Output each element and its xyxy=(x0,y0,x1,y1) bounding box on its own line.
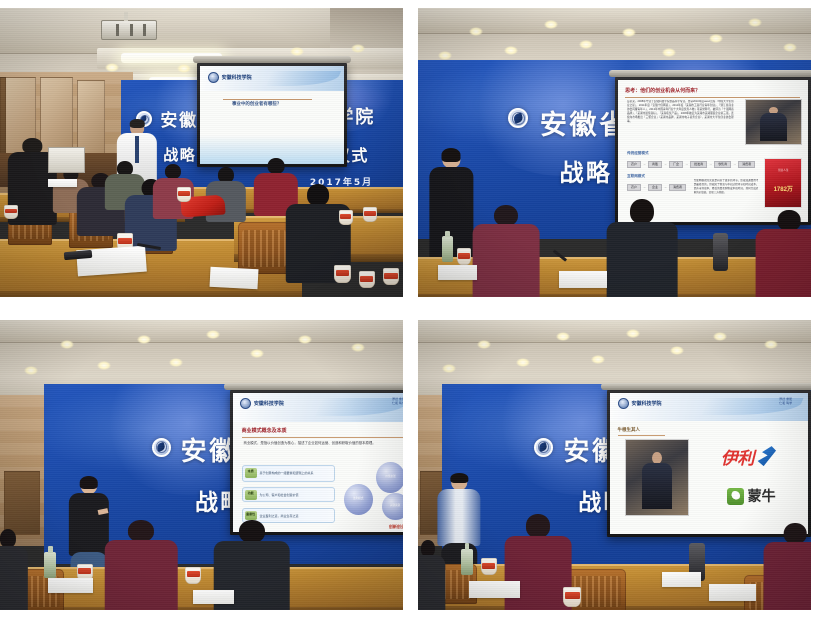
slide-chip: 功能 为公司、客户和社会创造价值 xyxy=(242,487,335,502)
document-paper xyxy=(48,578,92,593)
downlight xyxy=(579,40,593,49)
brand-yili: 伊利 xyxy=(721,444,776,469)
attendee xyxy=(607,199,678,297)
slide-logo-icon xyxy=(618,398,629,409)
downlight xyxy=(556,332,570,341)
presenter xyxy=(69,477,109,579)
chip-tag: 本质 xyxy=(245,468,257,479)
brand-mengniu: 蒙牛 xyxy=(727,486,776,506)
document-paper xyxy=(709,584,756,601)
document-paper xyxy=(209,267,258,290)
book-caption: 创业人生 xyxy=(765,168,801,172)
downlight xyxy=(516,358,530,367)
mengniu-logo-icon xyxy=(727,488,744,505)
projection-screen: 安徽科技学院 厚德 重能 仁和 笃学 商业模式概念及本质 商业模式，是指以价值创… xyxy=(230,390,403,535)
document-paper xyxy=(469,581,520,598)
attendee xyxy=(0,529,28,610)
downlight xyxy=(97,361,111,370)
downlight xyxy=(105,63,119,72)
brand-yili-label: 伊利 xyxy=(721,444,754,469)
slide-book-cover: 创业人生 1782万 xyxy=(764,158,802,207)
slide-logo-icon xyxy=(240,398,251,409)
downlight xyxy=(504,46,518,55)
flow-section1-label: 传统经营模式 xyxy=(627,151,649,156)
flow-row-traditional: 农户→ 商贩→ 厂企→ 批发商→ 零售商→ 消费者 xyxy=(627,161,755,168)
document-paper xyxy=(193,590,233,605)
slide-header-logo: 安徽科技学院 xyxy=(222,74,252,81)
chair xyxy=(238,222,290,274)
slide-logo-icon xyxy=(208,72,219,83)
banner-line2: 战略 xyxy=(559,153,612,188)
photo-bottom-right[interactable]: 安徽省 战略 安徽科技学院 厚德 重能 仁和 笃学 xyxy=(418,320,811,610)
downlight xyxy=(351,343,365,352)
chip-text: 企业盈利之道，商业生存之道 xyxy=(257,514,299,518)
bottle xyxy=(461,549,473,575)
paper-cup xyxy=(457,248,471,265)
downlight xyxy=(626,329,640,338)
slide-chip: 本质 基于创意构成的一组要素和逻辑上的关系 xyxy=(242,465,335,482)
downlight xyxy=(250,349,264,358)
downlight xyxy=(351,44,365,53)
slide-motto-line2: 仁和 笃学 xyxy=(392,401,403,406)
slide-motto-line2: 仁和 笃学 xyxy=(779,401,792,406)
downlight xyxy=(783,43,797,52)
paper-cup xyxy=(339,210,353,224)
downlight xyxy=(137,335,151,344)
attendee xyxy=(473,205,540,297)
paper-cup xyxy=(185,567,201,584)
paper-cup xyxy=(383,268,399,285)
university-emblem-icon xyxy=(534,438,553,457)
document-paper xyxy=(662,572,701,587)
projection-screen: 安徽科技学院 事业中的创业者有哪些？ xyxy=(197,63,346,167)
downlight xyxy=(298,335,312,344)
paper-cup xyxy=(363,207,377,221)
photo-bottom-left[interactable]: 安徽省 战略 安徽科技学院 厚德 重能 仁和 笃学 xyxy=(0,320,403,610)
diagram-bubble: 盈利模式 xyxy=(344,484,373,515)
downlight xyxy=(709,34,723,43)
downlight xyxy=(469,27,483,36)
downlight xyxy=(713,332,727,341)
chip-tag: 功能 xyxy=(245,490,257,500)
slide-title: 牛根生其人 xyxy=(618,427,641,433)
chip-text: 基于创意构成的一组要素和逻辑上的关系 xyxy=(257,471,314,475)
projection-screen: 安徽科技学院 厚德 重能 仁和 笃学 牛根生其人 伊利 xyxy=(607,390,811,538)
slide-title: 事业中的创业者有哪些？ xyxy=(232,101,282,107)
side-cabinet xyxy=(48,147,84,173)
slide-body-text: 商业模式，是指以价值创造为核心，描述了企业如何运营、创造和获取价值的基本原理。 xyxy=(243,441,401,459)
paper-cup xyxy=(481,558,497,575)
downlight xyxy=(206,330,220,339)
slide-body-text: 彭某某，2008年毕业于安徽科技学院食品科学专业，曾获2010年度школ出席「… xyxy=(627,100,734,145)
photo-top-right[interactable]: 安徽省 战略 思考：他们的创业机会从何而来？ 彭某某，2008年毕业于安徽科技学… xyxy=(418,8,811,297)
diagram-bubble: 价值主张 xyxy=(376,462,403,493)
downlight xyxy=(442,364,456,373)
slide-person-photo xyxy=(745,99,802,146)
document-paper xyxy=(559,271,606,288)
slide-footer: 创新创业 xyxy=(389,524,403,530)
ceiling-projector xyxy=(101,20,157,40)
slide-section2-note: 互联网模式的实质是向前了更多的环节，压缩流通费用不是最终目的，但缩短了物流与中间… xyxy=(694,179,759,213)
slide-title: 商业模式概念及本质 xyxy=(242,427,287,434)
paper-cup xyxy=(563,587,581,607)
paper-cup xyxy=(177,187,191,201)
thermos xyxy=(713,233,729,271)
flow-row-internet: 农户→ 企业→ 消费者 xyxy=(627,184,686,191)
paper-cup xyxy=(4,205,18,219)
diagram-bubble: 关键资源 xyxy=(382,493,403,521)
chip-text: 为公司、客户和社会创造价值 xyxy=(257,493,299,497)
downlight xyxy=(169,358,183,367)
document-paper xyxy=(48,179,76,188)
banner-line2: 战略 xyxy=(163,144,196,165)
slide-header-logo: 安徽科技学院 xyxy=(254,400,284,407)
paper-cup xyxy=(359,271,375,288)
slide-person-photo xyxy=(625,439,688,516)
book-number: 1782万 xyxy=(765,184,801,193)
photo-top-left[interactable]: 安徽省 科技学院 战略 签约仪式 2017年5月 安徽科技学院 xyxy=(0,8,403,297)
flow-section2-label: 互联网模式 xyxy=(627,174,645,179)
paper-cup xyxy=(334,265,350,282)
attendee xyxy=(105,520,178,610)
university-emblem-icon xyxy=(152,438,171,457)
downlight xyxy=(670,346,684,355)
attendee xyxy=(418,540,446,610)
downlight xyxy=(544,20,558,29)
yili-swoosh-icon xyxy=(756,446,776,466)
chip-tag: 重要性 xyxy=(245,511,257,521)
slide-header-logo: 安徽科技学院 xyxy=(632,400,662,407)
document-paper xyxy=(438,265,477,279)
attendee xyxy=(764,523,811,610)
slide-title: 思考：他们的创业机会从何而来？ xyxy=(625,87,700,94)
bottle xyxy=(44,552,56,578)
university-emblem-icon xyxy=(508,108,528,128)
downlight xyxy=(591,355,605,364)
brand-mengniu-label: 蒙牛 xyxy=(748,486,776,506)
bottle xyxy=(442,236,454,262)
photo-collage: 安徽省 科技学院 战略 签约仪式 2017年5月 安徽科技学院 xyxy=(0,0,813,618)
attendee xyxy=(756,210,811,297)
